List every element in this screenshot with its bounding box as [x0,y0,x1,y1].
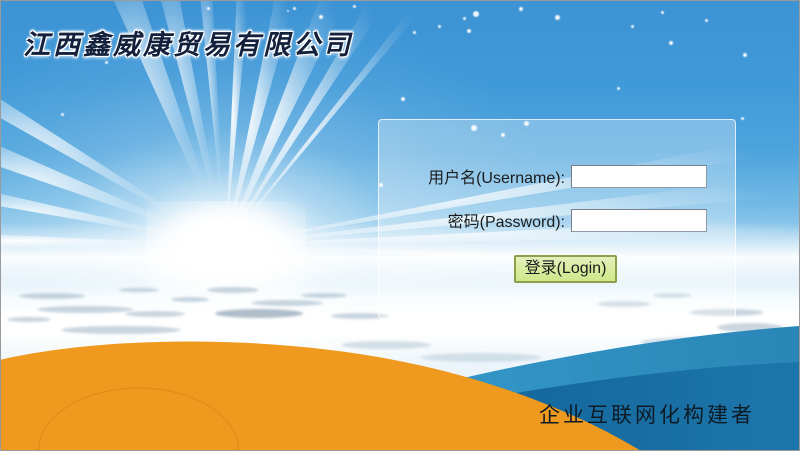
cloud-wisp [125,311,185,317]
password-row: 密码(Password): [397,208,707,232]
cloud-wisp [207,287,259,293]
username-label: 用户名(Username): [397,164,571,188]
cloud-wisp [301,293,347,298]
decorative-waves [1,320,799,450]
sparkle-dot [661,11,664,14]
sparkle-dot [207,7,210,10]
sparkle-dot [319,15,323,19]
username-input[interactable] [571,165,707,188]
tagline-text: 企业互联网化构建者 [539,399,755,429]
cloud-wisp [19,293,85,299]
cloud-wisp [215,309,303,318]
login-page: 江西鑫威康贸易有限公司 企业互联网化构建者 用户名(Usernam [0,0,800,451]
sparkle-dot [741,117,744,120]
cloud-wisp [171,297,209,302]
sparkle-dot [473,11,479,17]
sparkle-dot [617,87,620,90]
login-submit-button[interactable]: 登录(Login) [514,255,617,283]
sparkle-dot [401,97,405,101]
sparkle-dot [438,25,441,28]
sparkle-dot [631,25,634,28]
sparkle-dot [669,41,673,45]
sparkle-dot [287,10,289,12]
sparkle-dot [61,113,64,116]
sparkle-dot [555,15,560,20]
sparkle-dot [705,19,708,22]
sparkle-dot [353,5,356,8]
sun-core [146,201,306,293]
sparkle-dot [467,29,471,33]
sparkle-dot [293,7,296,10]
password-label: 密码(Password): [397,208,571,232]
sparkle-dot [743,53,747,57]
cloud-wisp [251,300,323,306]
sparkle-dot [519,7,523,11]
password-input[interactable] [571,209,707,232]
username-row: 用户名(Username): [397,164,707,188]
cloud-wisp [119,288,159,292]
cloud-wisp [37,306,133,313]
sparkle-dot [463,17,466,20]
page-title: 江西鑫威康贸易有限公司 [23,23,353,62]
login-panel: 用户名(Username): 密码(Password): 登录(Login) [378,119,736,319]
sparkle-dot [413,31,416,34]
